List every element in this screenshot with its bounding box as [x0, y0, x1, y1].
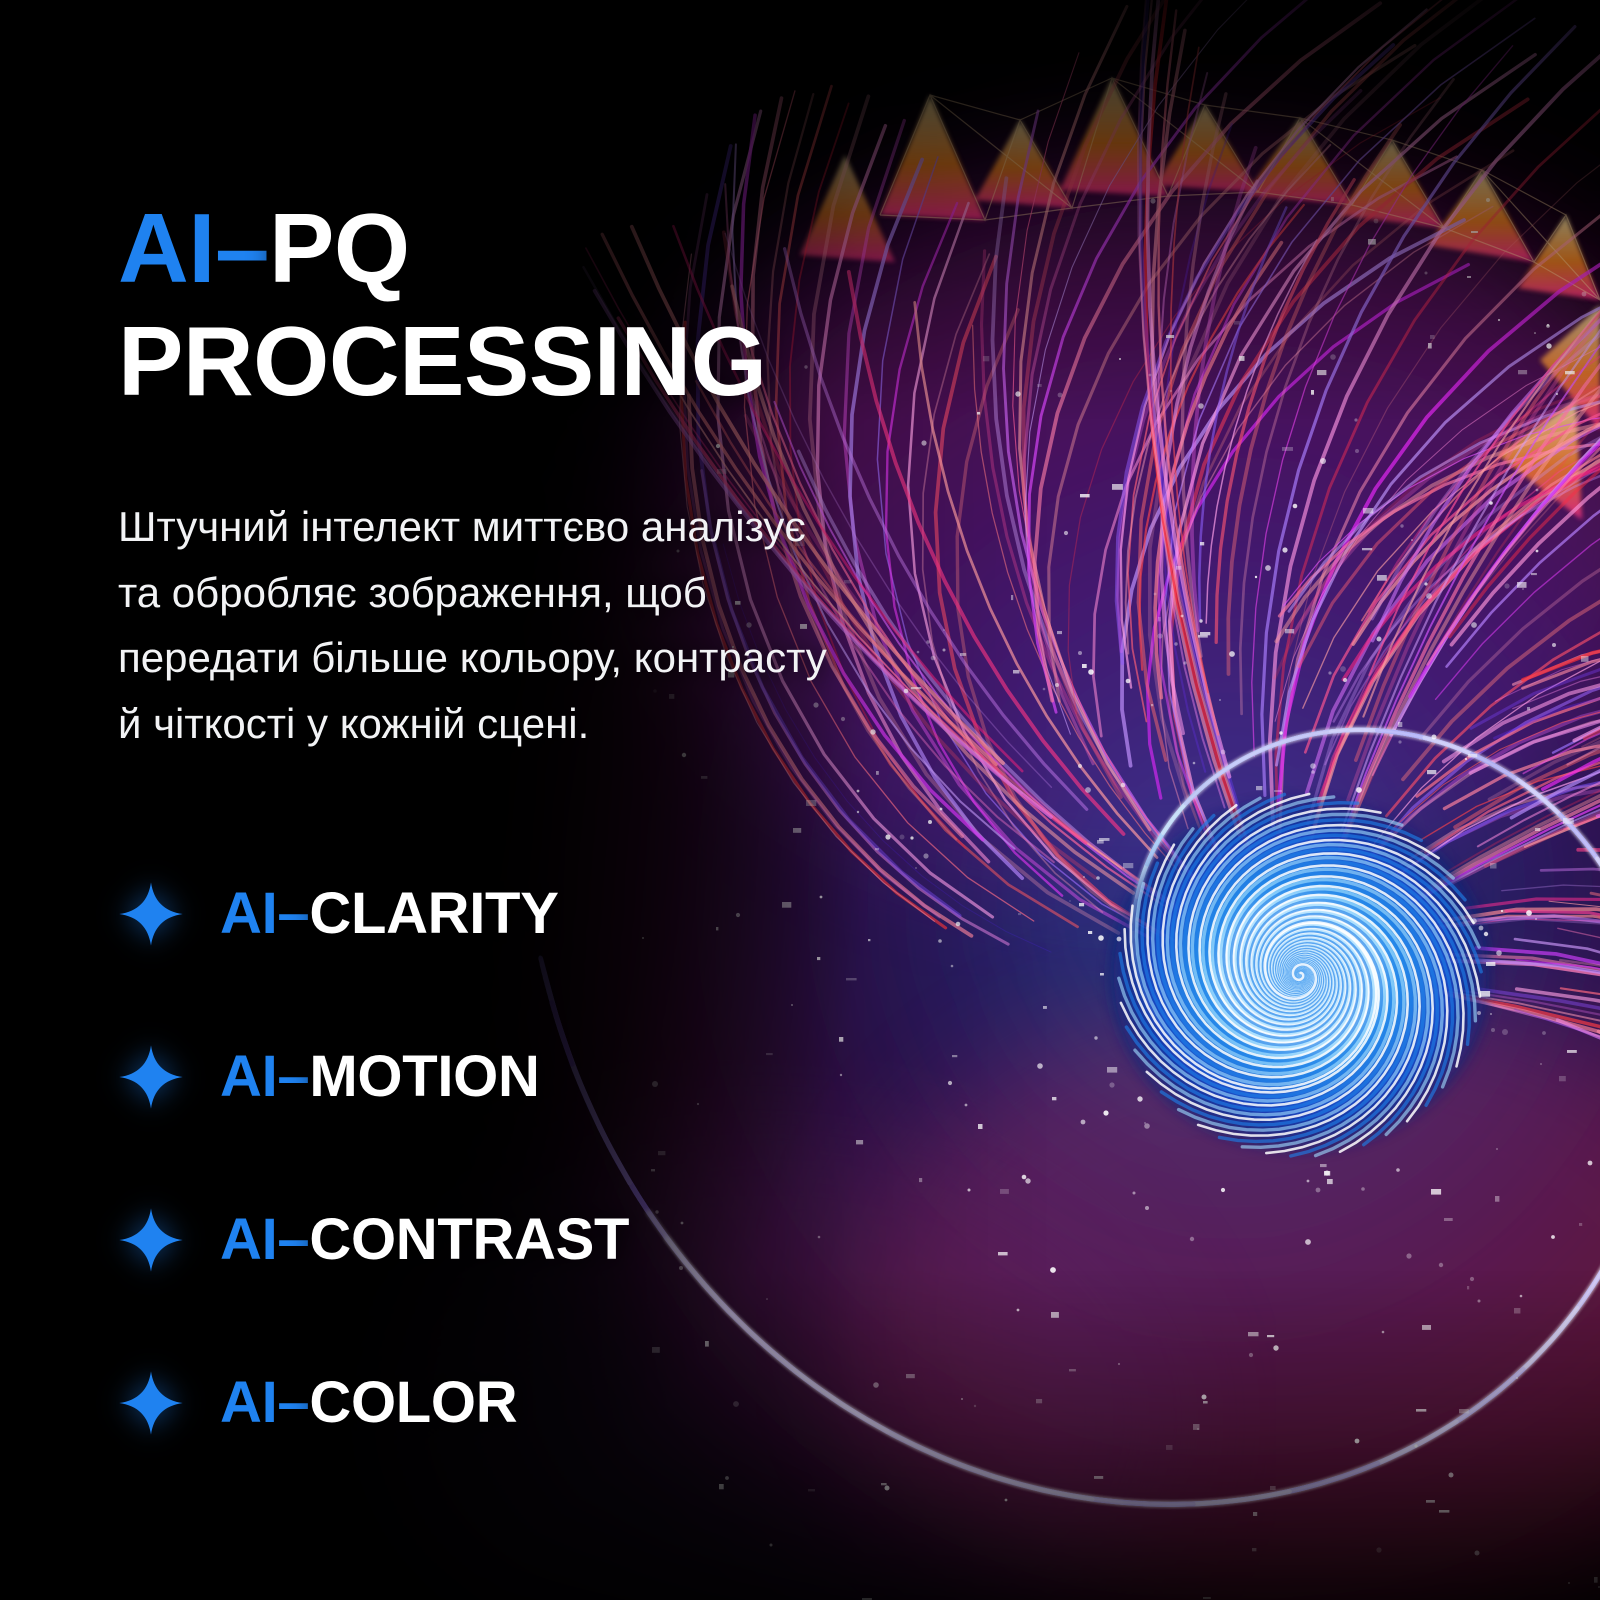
feature-name: CONTRAST	[309, 1207, 629, 1272]
feature-name: MOTION	[309, 1044, 539, 1109]
feature-prefix: AI–	[220, 1370, 309, 1435]
title-line-2: PROCESSING	[118, 305, 1018, 419]
feature-name: COLOR	[309, 1370, 517, 1435]
feature-item-color: AI–COLOR	[118, 1321, 918, 1484]
promo-poster: AI–PQ PROCESSING Штучний інтелект миттєв…	[0, 0, 1600, 1600]
page-title: AI–PQ PROCESSING	[118, 192, 1018, 419]
description-paragraph: Штучний інтелект миттєво аналізує та обр…	[118, 494, 838, 756]
feature-prefix: AI–	[220, 1207, 309, 1272]
content-layer: AI–PQ PROCESSING Штучний інтелект миттєв…	[0, 0, 1600, 1600]
feature-item-motion: AI–MOTION	[118, 995, 918, 1158]
feature-label-contrast: AI–CONTRAST	[220, 1206, 629, 1273]
sparkle-icon	[118, 1044, 184, 1110]
title-line-1: AI–PQ	[118, 192, 1018, 306]
feature-item-clarity: AI–CLARITY	[118, 832, 918, 995]
feature-item-contrast: AI–CONTRAST	[118, 1158, 918, 1321]
feature-label-motion: AI–MOTION	[220, 1043, 540, 1110]
feature-label-clarity: AI–CLARITY	[220, 880, 559, 947]
sparkle-icon	[118, 881, 184, 947]
feature-prefix: AI–	[220, 881, 309, 946]
feature-prefix: AI–	[220, 1044, 309, 1109]
sparkle-icon	[118, 1207, 184, 1273]
feature-list: AI–CLARITY AI–MOTION AI–CONTRAST AI–COLO…	[118, 832, 918, 1484]
title-line-1-rest: PQ	[269, 193, 410, 303]
feature-name: CLARITY	[309, 881, 558, 946]
sparkle-icon	[118, 1370, 184, 1436]
title-accent: AI–	[118, 193, 269, 303]
feature-label-color: AI–COLOR	[220, 1369, 517, 1436]
